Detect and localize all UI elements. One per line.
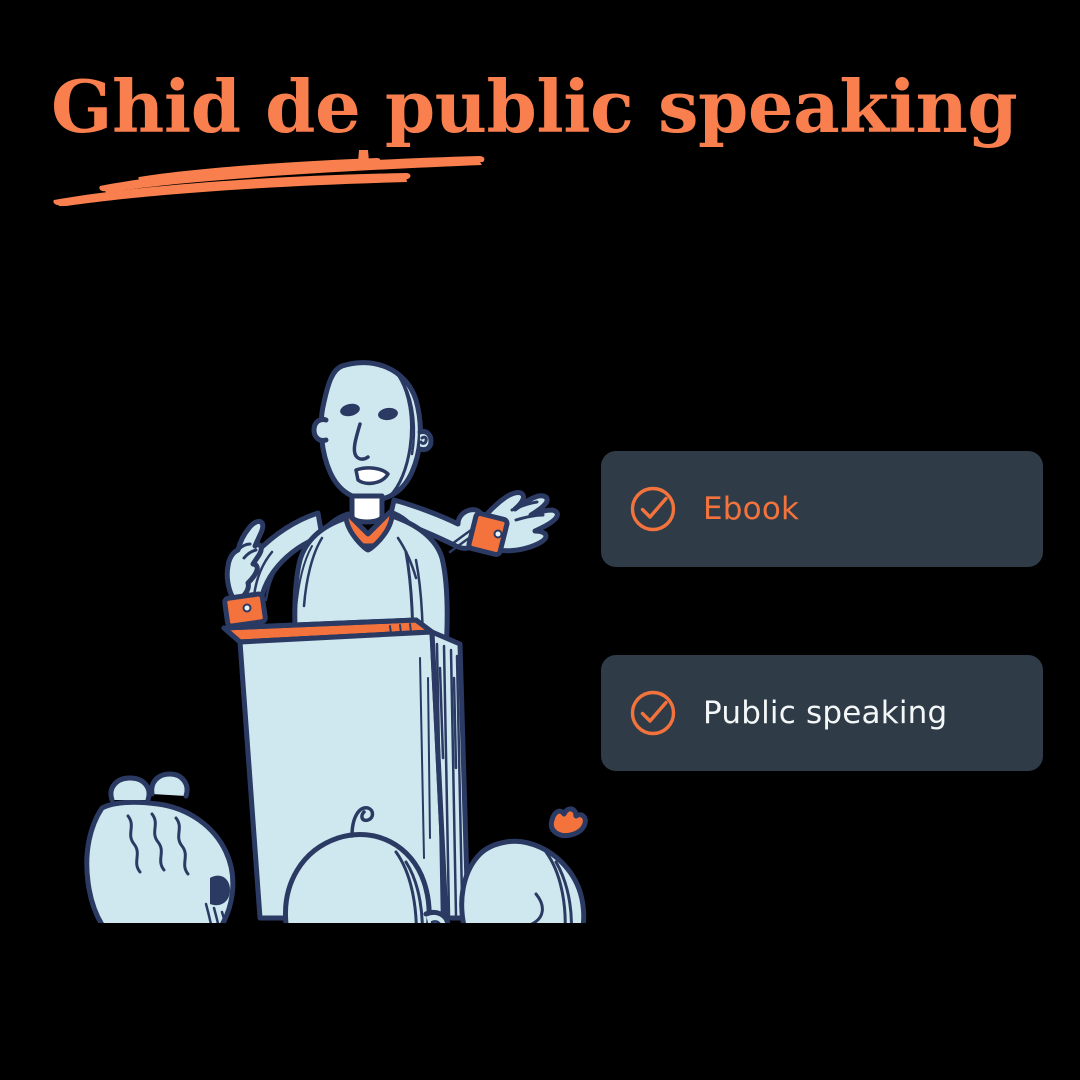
speaker-illustration	[60, 338, 605, 923]
check-circle-icon	[629, 689, 677, 737]
speaker-right-hand-open	[468, 493, 557, 556]
badge-card-label: Ebook	[703, 494, 799, 525]
title-block: Ghid de public speaking	[46, 66, 1006, 196]
poster-canvas: Ghid de public speaking	[0, 0, 1080, 1080]
title-underline-swoosh	[46, 146, 546, 206]
badge-card-public-speaking[interactable]: Public speaking	[601, 655, 1043, 771]
badge-card-list: Ebook Public speaking	[601, 451, 1043, 771]
audience-head-right	[462, 809, 586, 923]
audience-head-left	[87, 774, 233, 923]
badge-card-ebook[interactable]: Ebook	[601, 451, 1043, 567]
page-title: Ghid de public speaking	[51, 66, 1017, 148]
badge-card-label: Public speaking	[703, 698, 947, 729]
speaker-head	[314, 363, 431, 500]
check-circle-icon	[629, 485, 677, 533]
